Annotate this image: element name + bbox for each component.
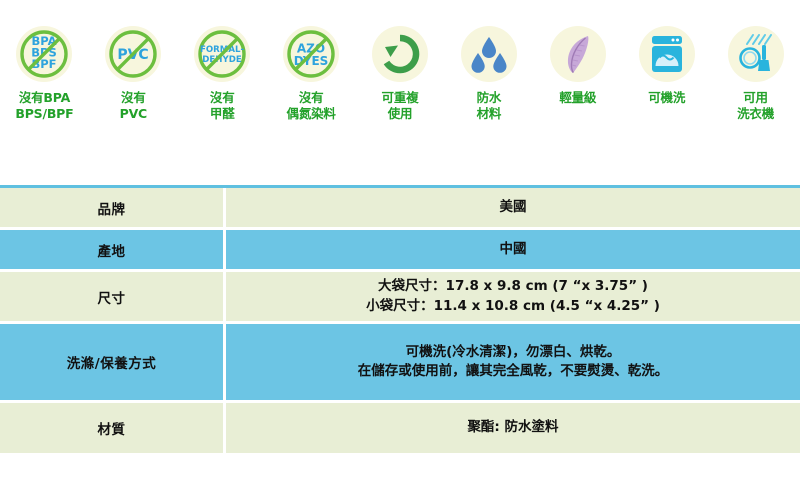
spec-label: 尺寸: [0, 272, 226, 324]
spec-label: 產地: [0, 230, 226, 272]
svg-text:DEHYDE: DEHYDE: [203, 55, 243, 65]
feature-dishwasher-safe: 可用 洗衣機: [711, 26, 800, 122]
feature-label: 沒有BPA BPS/BPF: [15, 90, 73, 122]
feature-label: 防水 材料: [477, 90, 502, 122]
feature-label: 沒有 PVC: [120, 90, 147, 122]
dishwasher-safe-icon: [728, 26, 784, 82]
table-row: 材質 聚酯: 防水塗料: [0, 403, 800, 453]
feature-label: 可機洗: [648, 90, 685, 106]
feather-lightweight-icon: [550, 26, 606, 82]
spec-value: 美國: [226, 188, 800, 230]
spec-label: 品牌: [0, 188, 226, 230]
spec-value: 可機洗(冷水清潔)，勿漂白、烘乾。 在儲存或使用前，讓其完全風乾，不要熨燙、乾洗…: [226, 324, 800, 403]
no-bpa-icon: BPA BPS BPF: [16, 26, 72, 82]
spec-value: 大袋尺寸：17.8 x 9.8 cm (7 “x 3.75” ) 小袋尺寸：11…: [226, 272, 800, 324]
feature-no-bpa: BPA BPS BPF 沒有BPA BPS/BPF: [0, 26, 89, 122]
waterproof-droplets-icon: [461, 26, 517, 82]
product-spec-table: 品牌 美國 產地 中國 尺寸 大袋尺寸：17.8 x 9.8 cm (7 “x …: [0, 185, 800, 453]
spec-label: 洗滌/保養方式: [0, 324, 226, 403]
feature-reusable: 可重複 使用: [356, 26, 445, 122]
no-formaldehyde-icon: FORMAL- DEHYDE: [194, 26, 250, 82]
no-pvc-icon: PVC: [105, 26, 161, 82]
feature-label: 沒有 甲醛: [210, 90, 235, 122]
feature-label: 沒有 偶氮染料: [287, 90, 336, 122]
feature-label: 輕量級: [559, 90, 596, 106]
spec-value: 聚酯: 防水塗料: [226, 403, 800, 453]
feature-no-formaldehyde: FORMAL- DEHYDE 沒有 甲醛: [178, 26, 267, 122]
reusable-icon: [372, 26, 428, 82]
no-azo-dyes-icon: AZO DYES: [283, 26, 339, 82]
feature-no-azo-dyes: AZO DYES 沒有 偶氮染料: [267, 26, 356, 122]
feature-machine-washable: 可機洗: [622, 26, 711, 106]
table-row: 產地 中國: [0, 230, 800, 272]
table-row: 品牌 美國: [0, 188, 800, 230]
feature-label: 可重複 使用: [382, 90, 419, 122]
table-row: 洗滌/保養方式 可機洗(冷水清潔)，勿漂白、烘乾。 在儲存或使用前，讓其完全風乾…: [0, 324, 800, 403]
table-row: 尺寸 大袋尺寸：17.8 x 9.8 cm (7 “x 3.75” ) 小袋尺寸…: [0, 272, 800, 324]
washing-machine-icon: [639, 26, 695, 82]
feature-lightweight: 輕量級: [533, 26, 622, 106]
feature-waterproof: 防水 材料: [444, 26, 533, 122]
feature-label: 可用 洗衣機: [737, 90, 774, 122]
spec-label: 材質: [0, 403, 226, 453]
spec-value: 中國: [226, 230, 800, 272]
feature-icon-strip: BPA BPS BPF 沒有BPA BPS/BPF PVC 沒有 PVC FOR…: [0, 26, 800, 146]
feature-no-pvc: PVC 沒有 PVC: [89, 26, 178, 122]
